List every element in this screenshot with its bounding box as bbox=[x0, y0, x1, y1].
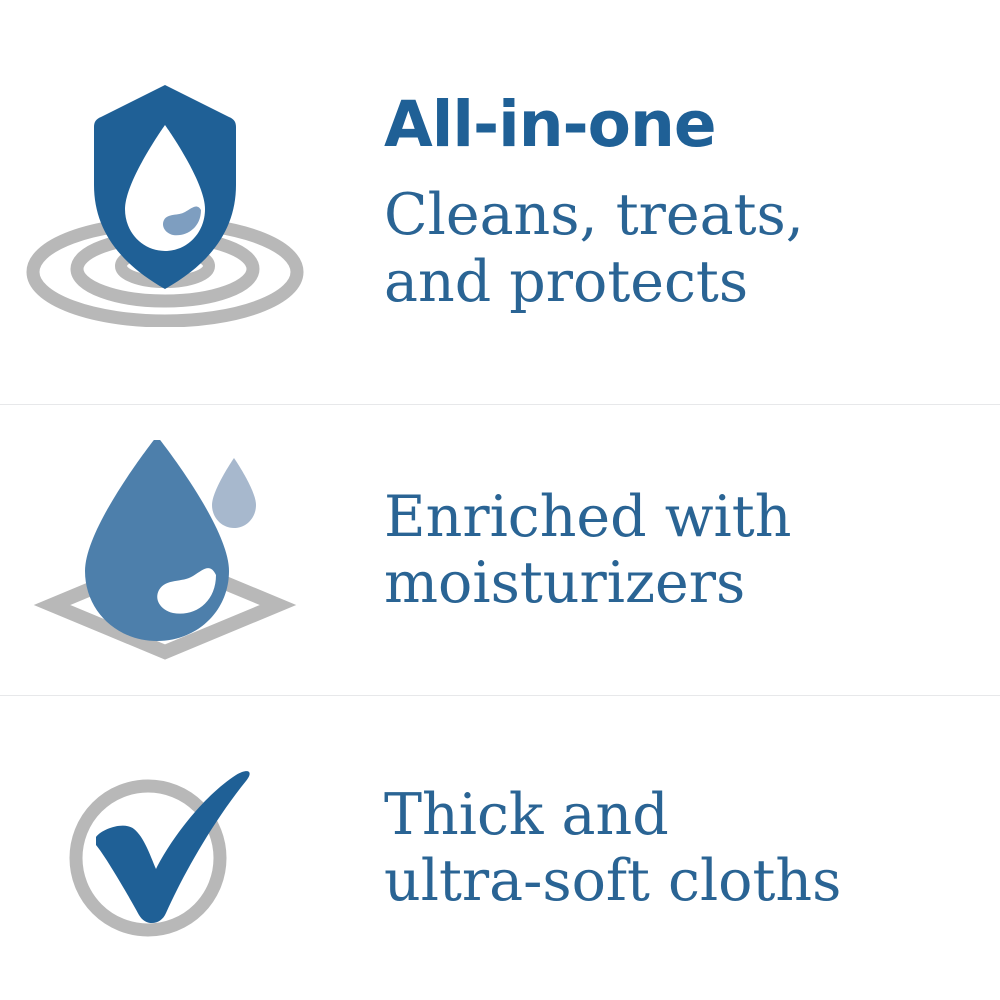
icon-cell-1 bbox=[0, 77, 330, 327]
icon-cell-2 bbox=[0, 440, 330, 660]
feature-row-all-in-one: All-in-one Cleans, treats, and protects bbox=[0, 0, 1000, 404]
feature-text-line: Cleans, treats, bbox=[384, 182, 1000, 248]
feature-headline: All-in-one bbox=[384, 93, 1000, 156]
feature-text-line: Enriched with bbox=[384, 484, 1000, 550]
shield-water-drop-ripple-icon bbox=[15, 77, 315, 327]
text-cell-1: All-in-one Cleans, treats, and protects bbox=[330, 89, 1000, 314]
feature-text-line: moisturizers bbox=[384, 550, 1000, 616]
feature-text-line: and protects bbox=[384, 249, 1000, 315]
feature-text-line: Thick and bbox=[384, 782, 1000, 848]
icon-cell-3 bbox=[0, 753, 330, 943]
text-cell-2: Enriched with moisturizers bbox=[330, 484, 1000, 616]
text-cell-3: Thick and ultra-soft cloths bbox=[330, 782, 1000, 914]
product-benefits-infographic: All-in-one Cleans, treats, and protects … bbox=[0, 0, 1000, 1000]
feature-row-soft-cloths: Thick and ultra-soft cloths bbox=[0, 696, 1000, 1000]
checkmark-circle-icon bbox=[40, 753, 290, 943]
feature-row-moisturizers: Enriched with moisturizers bbox=[0, 405, 1000, 694]
feature-text-line: ultra-soft cloths bbox=[384, 848, 1000, 914]
water-drop-on-cloth-icon bbox=[20, 440, 310, 660]
